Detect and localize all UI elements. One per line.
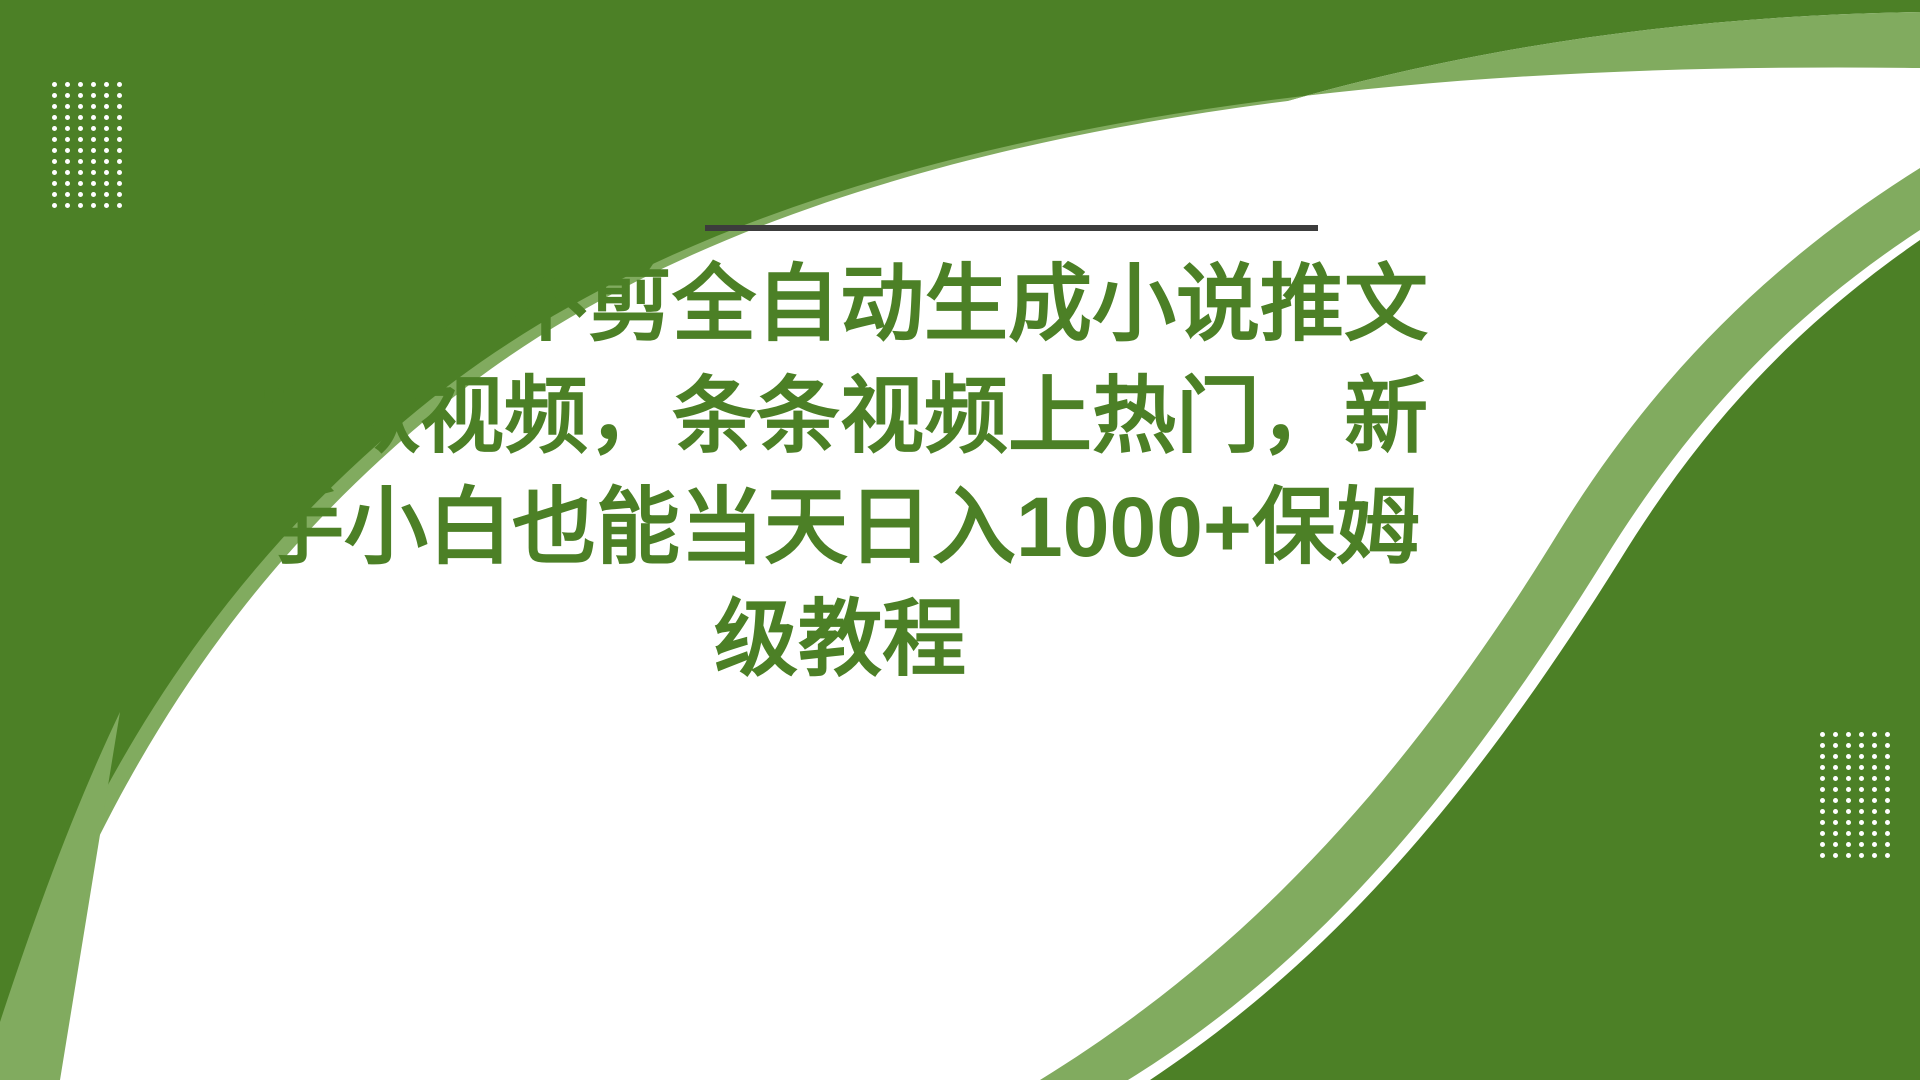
- poster-canvas: AI一刀不剪全自动生成小说推文爆款视频，条条视频上热门，新手小白也能当天日入10…: [0, 0, 1920, 1080]
- page-title: AI一刀不剪全自动生成小说推文爆款视频，条条视频上热门，新手小白也能当天日入10…: [250, 249, 1430, 696]
- title-block: AI一刀不剪全自动生成小说推文爆款视频，条条视频上热门，新手小白也能当天日入10…: [250, 225, 1430, 696]
- title-rule-divider: [705, 225, 1318, 231]
